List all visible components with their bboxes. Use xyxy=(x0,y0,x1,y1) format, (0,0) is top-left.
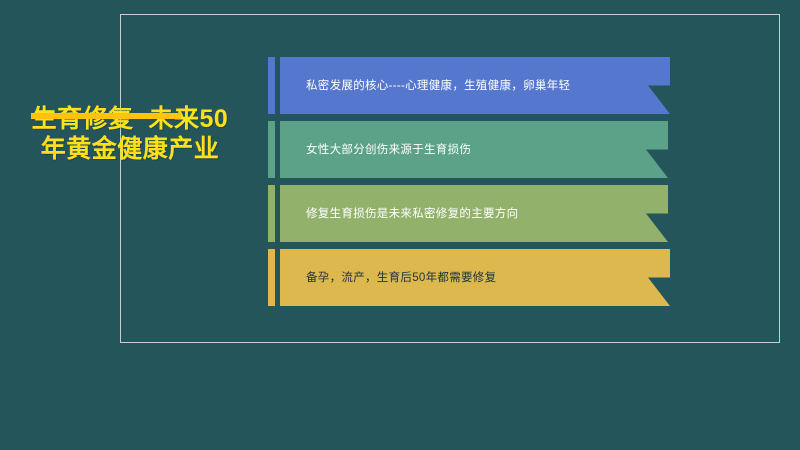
banner-label: 女性大部分创伤来源于生育损伤 xyxy=(280,142,505,158)
banner-body[interactable]: 修复生育损伤是未来私密修复的主要方向 xyxy=(280,185,668,242)
banner-tab-gap xyxy=(275,121,280,178)
banner-body[interactable]: 女性大部分创伤来源于生育损伤 xyxy=(280,121,668,178)
banner-tab-gap xyxy=(275,57,280,114)
title-underline xyxy=(31,113,181,119)
banner-row[interactable]: 私密发展的核心----心理健康，生殖健康，卵巢年轻 xyxy=(268,57,670,114)
banner-row[interactable]: 备孕，流产，生育后50年都需要修复 xyxy=(268,249,670,306)
slide-canvas: 生育修复 未来50年黄金健康产业 私密发展的核心----心理健康，生殖健康，卵巢… xyxy=(0,0,800,450)
banner-label: 备孕，流产，生育后50年都需要修复 xyxy=(280,270,530,286)
banner-accent-tab xyxy=(268,121,275,178)
banner-accent-tab xyxy=(268,185,275,242)
banner-row[interactable]: 修复生育损伤是未来私密修复的主要方向 xyxy=(268,185,668,242)
banner-label: 私密发展的核心----心理健康，生殖健康，卵巢年轻 xyxy=(280,78,604,94)
banner-tab-gap xyxy=(275,185,280,242)
banner-body[interactable]: 私密发展的核心----心理健康，生殖健康，卵巢年轻 xyxy=(280,57,670,114)
banner-accent-tab xyxy=(268,249,275,306)
banner-row[interactable]: 女性大部分创伤来源于生育损伤 xyxy=(268,121,668,178)
banner-tab-gap xyxy=(275,249,280,306)
banner-accent-tab xyxy=(268,57,275,114)
banner-label: 修复生育损伤是未来私密修复的主要方向 xyxy=(280,206,552,222)
banner-body[interactable]: 备孕，流产，生育后50年都需要修复 xyxy=(280,249,670,306)
